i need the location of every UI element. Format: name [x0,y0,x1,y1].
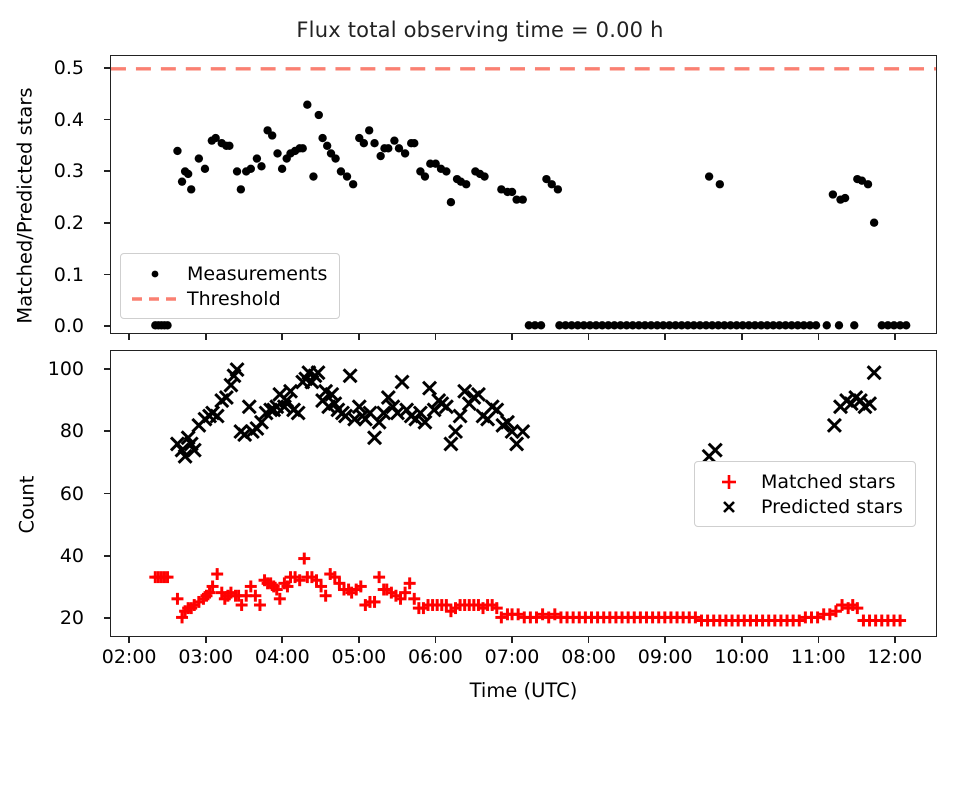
data-point [376,152,384,160]
predicted-stars-marker-icon [703,496,755,518]
x-tick-mark [818,334,820,340]
data-point [253,154,261,162]
data-point [554,185,562,193]
y-tick-mark [104,430,110,432]
data-point [390,136,398,144]
data-point [705,172,713,180]
x-tick-mark [281,334,283,340]
legend-label-predicted: Predicted stars [755,496,903,518]
y-tick-label: 100 [0,358,84,380]
x-tick-mark [741,637,743,643]
y-tick-mark [104,555,110,557]
x-tick-mark [358,334,360,340]
data-point [343,172,351,180]
x-tick-label: 07:00 [485,646,540,668]
y-tick-label: 80 [0,420,84,442]
data-point [835,321,843,329]
data-point [360,139,368,147]
x-tick-mark [511,637,513,643]
data-point [716,180,724,188]
legend-entry-threshold: Threshold [129,286,327,311]
series-predicted-stars [171,363,881,463]
data-point [902,321,910,329]
y-tick-mark [104,222,110,224]
x-tick-label: 03:00 [178,646,233,668]
y-tick-mark [104,274,110,276]
data-point [870,219,878,227]
data-point [268,131,276,139]
data-point [331,154,339,162]
data-point [247,165,255,173]
x-tick-mark [205,334,207,340]
data-point [442,167,450,175]
x-tick-mark [894,334,896,340]
data-point [349,180,357,188]
data-point [233,167,241,175]
x-tick-label: 04:00 [255,646,310,668]
ratio-legend: Measurements Threshold [120,253,340,319]
data-point [184,170,192,178]
data-point [864,180,872,188]
data-point [401,149,409,157]
data-point [187,185,195,193]
x-tick-mark [435,334,437,340]
data-point [278,165,286,173]
data-point [163,321,171,329]
legend-label-matched: Matched stars [755,471,895,493]
data-point [850,321,858,329]
data-point [421,172,429,180]
data-point [273,149,281,157]
data-point [323,142,331,150]
y-tick-mark [104,170,110,172]
x-tick-mark [664,334,666,340]
count-legend: Matched stars Predicted stars [694,461,916,527]
data-point [823,321,831,329]
x-tick-label: 09:00 [638,646,693,668]
data-point [173,147,181,155]
data-point [841,194,849,202]
x-tick-mark [818,637,820,643]
data-point [370,139,378,147]
y-tick-label: 40 [0,545,84,567]
x-tick-mark [894,637,896,643]
x-tick-mark [435,637,437,643]
y-tick-mark [104,617,110,619]
data-point [303,101,311,109]
data-point [480,172,488,180]
threshold-line-icon [129,288,181,310]
data-point [812,321,820,329]
x-tick-mark [358,637,360,643]
data-point [537,321,545,329]
legend-label-threshold: Threshold [181,288,281,310]
page-title: Flux total observing time = 0.00 h [0,18,960,42]
legend-entry-measurements: Measurements [129,261,327,286]
x-tick-mark [128,637,130,643]
data-point [462,180,470,188]
data-point [237,185,245,193]
x-tick-label: 02:00 [102,646,157,668]
matched-stars-marker-icon [703,471,755,493]
data-point [178,178,186,186]
x-tick-mark [664,637,666,643]
data-point [519,195,527,203]
data-point [225,142,233,150]
data-point [365,126,373,134]
figure-root: Flux total observing time = 0.00 h 0.00.… [0,0,960,720]
count-y-axis-label: Count [16,225,39,785]
data-point [447,198,455,206]
data-point [309,172,317,180]
x-tick-mark [128,334,130,340]
x-tick-mark [741,334,743,340]
data-point [195,154,203,162]
y-tick-mark [104,368,110,370]
x-tick-label: 06:00 [408,646,463,668]
data-point [508,188,516,196]
y-tick-mark [104,119,110,121]
legend-entry-predicted: Predicted stars [703,494,903,519]
y-tick-mark [104,67,110,69]
data-point [829,190,837,198]
x-tick-mark [281,637,283,643]
data-point [257,162,265,170]
x-tick-mark [588,637,590,643]
y-tick-mark [104,493,110,495]
data-point [201,165,209,173]
x-tick-label: 10:00 [714,646,769,668]
legend-label-measurements: Measurements [181,263,327,285]
x-tick-label: 08:00 [561,646,616,668]
data-point [384,144,392,152]
x-tick-label: 11:00 [791,646,846,668]
data-point [410,139,418,147]
x-axis-label: Time (UTC) [110,679,937,702]
data-point [318,134,326,142]
series-matched-stars [149,553,906,627]
y-tick-label: 60 [0,483,84,505]
measurements-marker-icon [129,263,181,285]
y-tick-mark [104,325,110,327]
data-point [299,144,307,152]
y-tick-label: 20 [0,607,84,629]
x-tick-mark [511,334,513,340]
x-tick-mark [588,334,590,340]
x-tick-mark [205,637,207,643]
legend-entry-matched: Matched stars [703,469,903,494]
data-point [315,111,323,119]
x-tick-label: 12:00 [867,646,922,668]
x-tick-label: 05:00 [331,646,386,668]
